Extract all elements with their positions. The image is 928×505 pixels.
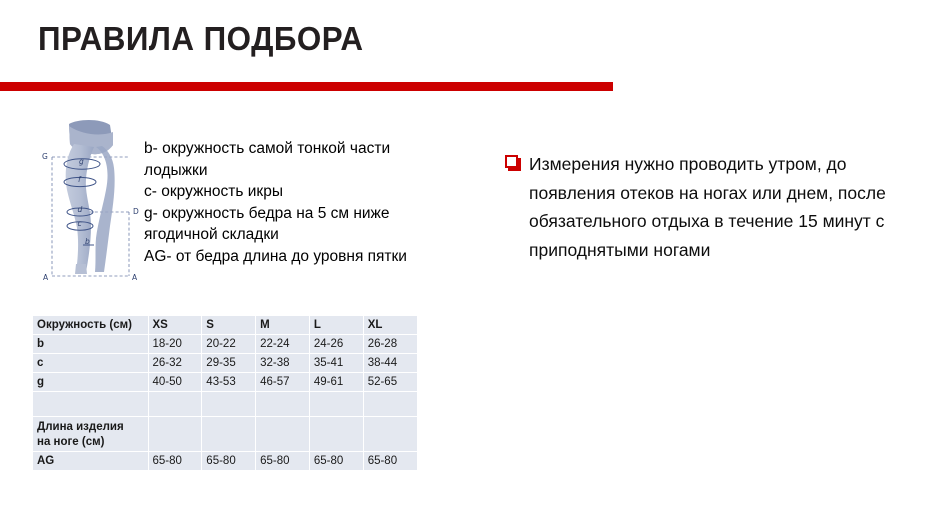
title-underline-rule [0, 82, 613, 91]
row-label-ag: AG [33, 452, 148, 471]
table-row: c 26-32 29-35 32-38 35-41 38-44 [33, 354, 417, 373]
table-header-measure: Окружность (см) [33, 316, 148, 335]
spacer-cell-xl [363, 392, 417, 417]
cell-c-xl: 38-44 [363, 354, 417, 373]
cell-c-l: 35-41 [309, 354, 363, 373]
spacer-label [33, 392, 148, 417]
cell-g-s: 43-53 [202, 373, 256, 392]
cell-b-m: 22-24 [256, 335, 310, 354]
red-square-bullet-icon [505, 155, 518, 168]
spacer-cell-s [202, 392, 256, 417]
cell-ag-m: 65-80 [256, 452, 310, 471]
svg-text:d: d [78, 205, 83, 214]
svg-text:g: g [79, 157, 84, 166]
section-cell-xs [148, 417, 202, 452]
legend-line-ag: AG- от бедра длина до уровня пятки [144, 246, 444, 268]
section-label-line1: Длина изделия [37, 421, 124, 433]
section-cell-l [309, 417, 363, 452]
table-section-row: Длина изделия на ноге (см) [33, 417, 417, 452]
cell-g-m: 46-57 [256, 373, 310, 392]
table-header-xs: XS [148, 316, 202, 335]
cell-ag-xs: 65-80 [148, 452, 202, 471]
cell-c-m: 32-38 [256, 354, 310, 373]
table-row: g 40-50 43-53 46-57 49-61 52-65 [33, 373, 417, 392]
spacer-cell-m [256, 392, 310, 417]
table-row: AG 65-80 65-80 65-80 65-80 65-80 [33, 452, 417, 471]
measurement-legend: b- окружность самой тонкой части лодыжки… [144, 138, 444, 267]
cell-c-xs: 26-32 [148, 354, 202, 373]
svg-text:D: D [133, 207, 139, 216]
svg-text:G: G [42, 152, 48, 161]
cell-ag-l: 65-80 [309, 452, 363, 471]
cell-b-s: 20-22 [202, 335, 256, 354]
table-header-s: S [202, 316, 256, 335]
measurement-time-note: Измерения нужно проводить утром, до появ… [505, 150, 910, 264]
section-cell-s [202, 417, 256, 452]
cell-g-l: 49-61 [309, 373, 363, 392]
cell-b-l: 24-26 [309, 335, 363, 354]
cell-c-s: 29-35 [202, 354, 256, 373]
table-header-row: Окружность (см) XS S M L XL [33, 316, 417, 335]
table-row: b 18-20 20-22 22-24 24-26 26-28 [33, 335, 417, 354]
size-chart-table: Окружность (см) XS S M L XL b 18-20 20-2… [33, 316, 417, 470]
table-header-m: M [256, 316, 310, 335]
row-label-g: g [33, 373, 148, 392]
page-title: ПРАВИЛА ПОДБОРА [38, 16, 364, 62]
section-label-line2: на ноге (см) [37, 436, 104, 448]
row-label-c: c [33, 354, 148, 373]
svg-text:b: b [85, 237, 90, 246]
legend-line-b: b- окружность самой тонкой части лодыжки [144, 138, 444, 181]
cell-b-xs: 18-20 [148, 335, 202, 354]
table-header-l: L [309, 316, 363, 335]
cell-ag-xl: 65-80 [363, 452, 417, 471]
legend-line-c: c- окружность икры [144, 181, 444, 203]
measurement-time-note-text: Измерения нужно проводить утром, до появ… [529, 150, 910, 264]
cell-b-xl: 26-28 [363, 335, 417, 354]
spacer-cell-xs [148, 392, 202, 417]
cell-g-xl: 52-65 [363, 373, 417, 392]
svg-text:A: A [132, 273, 138, 282]
table-header-xl: XL [363, 316, 417, 335]
legend-line-g: g- окружность бедра на 5 см ниже ягодичн… [144, 203, 444, 246]
section-cell-m [256, 417, 310, 452]
table-spacer-row [33, 392, 417, 417]
cell-g-xs: 40-50 [148, 373, 202, 392]
section-cell-xl [363, 417, 417, 452]
row-label-b: b [33, 335, 148, 354]
svg-text:A: A [43, 273, 49, 282]
cell-ag-s: 65-80 [202, 452, 256, 471]
leg-measurement-diagram: g f d c b G D A A [34, 114, 146, 294]
spacer-cell-l [309, 392, 363, 417]
section-label: Длина изделия на ноге (см) [33, 417, 148, 452]
